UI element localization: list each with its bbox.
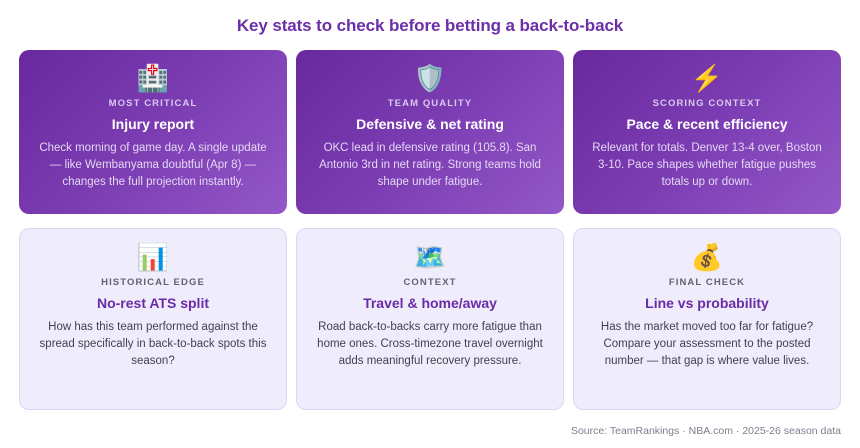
shield-icon: 🛡️ xyxy=(414,62,446,96)
bar-chart-icon: 📊 xyxy=(137,241,169,275)
card-eyebrow: HISTORICAL EDGE xyxy=(101,277,205,289)
card-title: Defensive & net rating xyxy=(356,116,504,133)
lightning-bolt-icon: ⚡ xyxy=(691,62,723,96)
card-body: Relevant for totals. Denver 13-4 over, B… xyxy=(591,140,823,191)
card-title: Injury report xyxy=(112,116,194,133)
card-eyebrow: TEAM QUALITY xyxy=(388,98,472,110)
stat-card-pace-recent-efficiency: ⚡ SCORING CONTEXT Pace & recent efficien… xyxy=(573,50,841,214)
card-title: Travel & home/away xyxy=(363,295,497,312)
card-body: Check morning of game day. A single upda… xyxy=(37,140,269,191)
card-body: Road back-to-backs carry more fatigue th… xyxy=(314,319,546,370)
card-eyebrow: FINAL CHECK xyxy=(669,277,745,289)
page-title: Key stats to check before betting a back… xyxy=(0,0,860,36)
stats-card-grid: 🏥 MOST CRITICAL Injury report Check morn… xyxy=(0,36,860,410)
card-eyebrow: MOST CRITICAL xyxy=(109,98,198,110)
card-body: How has this team performed against the … xyxy=(37,319,269,370)
card-body: Has the market moved too far for fatigue… xyxy=(591,319,823,370)
card-title: Pace & recent efficiency xyxy=(626,116,787,133)
stat-card-travel-home-away: 🗺️ CONTEXT Travel & home/away Road back-… xyxy=(296,228,564,410)
card-body: OKC lead in defensive rating (105.8). Sa… xyxy=(314,140,546,191)
stat-card-no-rest-ats-split: 📊 HISTORICAL EDGE No-rest ATS split How … xyxy=(19,228,287,410)
money-bag-icon: 💰 xyxy=(691,241,723,275)
world-map-icon: 🗺️ xyxy=(414,241,446,275)
stat-card-defensive-net-rating: 🛡️ TEAM QUALITY Defensive & net rating O… xyxy=(296,50,564,214)
card-title: No-rest ATS split xyxy=(97,295,209,312)
stat-card-line-vs-probability: 💰 FINAL CHECK Line vs probability Has th… xyxy=(573,228,841,410)
hospital-icon: 🏥 xyxy=(137,62,169,96)
card-eyebrow: CONTEXT xyxy=(403,277,456,289)
stat-card-injury-report: 🏥 MOST CRITICAL Injury report Check morn… xyxy=(19,50,287,214)
card-title: Line vs probability xyxy=(645,295,769,312)
card-eyebrow: SCORING CONTEXT xyxy=(653,98,762,110)
source-footnote: Source: TeamRankings · NBA.com · 2025-26… xyxy=(571,424,841,438)
